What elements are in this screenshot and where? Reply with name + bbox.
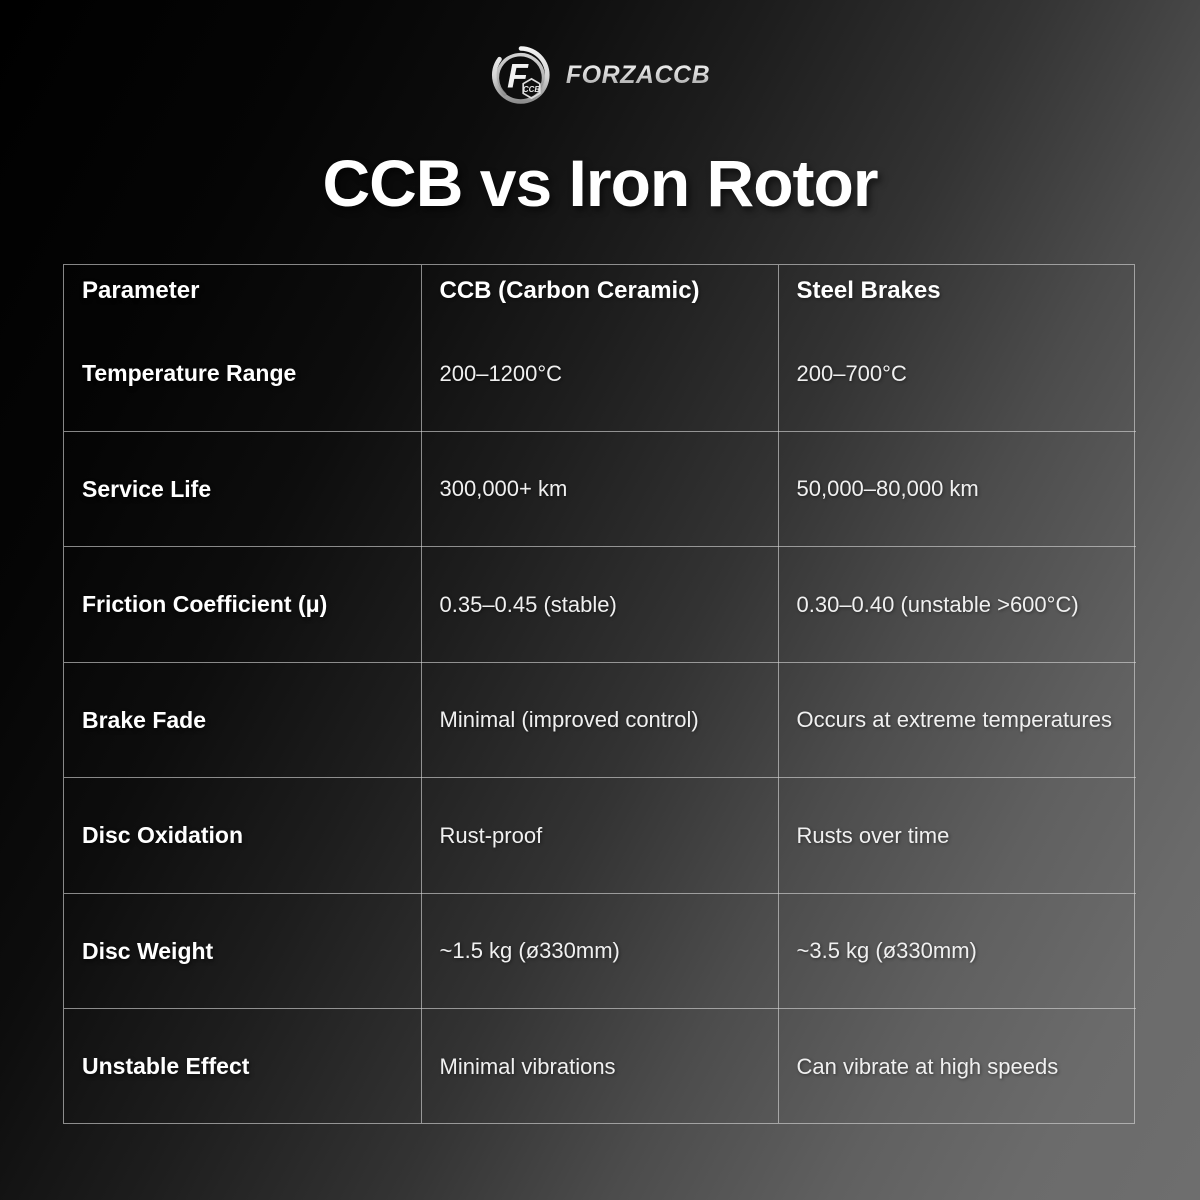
row-steel-value: ~3.5 kg (ø330mm) xyxy=(778,893,1136,1009)
row-parameter-label: Disc Oxidation xyxy=(64,778,421,894)
table-row: Brake Fade Minimal (improved control) Oc… xyxy=(64,662,1136,778)
row-ccb-value: 200–1200°C xyxy=(421,317,778,431)
table-row: Temperature Range 200–1200°C 200–700°C xyxy=(64,317,1136,431)
row-ccb-value: Rust-proof xyxy=(421,778,778,894)
table-row: Disc Weight ~1.5 kg (ø330mm) ~3.5 kg (ø3… xyxy=(64,893,1136,1009)
row-steel-value: Can vibrate at high speeds xyxy=(778,1009,1136,1123)
table-row: Disc Oxidation Rust-proof Rusts over tim… xyxy=(64,778,1136,894)
row-parameter-label: Friction Coefficient (μ) xyxy=(64,547,421,663)
column-header-steel: Steel Brakes xyxy=(778,265,1136,317)
row-parameter-label: Unstable Effect xyxy=(64,1009,421,1123)
forzaccb-logo-icon: F CCB xyxy=(490,44,552,106)
row-ccb-value: 300,000+ km xyxy=(421,431,778,547)
brand-header: F CCB FORZACCB xyxy=(0,40,1200,110)
svg-text:CCB: CCB xyxy=(523,85,541,94)
page-title: CCB vs Iron Rotor xyxy=(0,145,1200,221)
row-ccb-value: Minimal (improved control) xyxy=(421,662,778,778)
row-ccb-value: ~1.5 kg (ø330mm) xyxy=(421,893,778,1009)
brand-wordmark: FORZACCB xyxy=(566,61,710,90)
row-parameter-label: Temperature Range xyxy=(64,317,421,431)
poster-canvas: F CCB FORZACCB CCB vs Iron Rotor Paramet… xyxy=(0,0,1200,1200)
row-steel-value: 200–700°C xyxy=(778,317,1136,431)
row-ccb-value: 0.35–0.45 (stable) xyxy=(421,547,778,663)
table-row: Friction Coefficient (μ) 0.35–0.45 (stab… xyxy=(64,547,1136,663)
row-parameter-label: Service Life xyxy=(64,431,421,547)
column-header-parameter: Parameter xyxy=(64,265,421,317)
row-steel-value: 50,000–80,000 km xyxy=(778,431,1136,547)
row-steel-value: 0.30–0.40 (unstable >600°C) xyxy=(778,547,1136,663)
row-steel-value: Occurs at extreme temperatures xyxy=(778,662,1136,778)
row-parameter-label: Disc Weight xyxy=(64,893,421,1009)
column-header-ccb: CCB (Carbon Ceramic) xyxy=(421,265,778,317)
table-row: Service Life 300,000+ km 50,000–80,000 k… xyxy=(64,431,1136,547)
row-ccb-value: Minimal vibrations xyxy=(421,1009,778,1123)
table-row: Unstable Effect Minimal vibrations Can v… xyxy=(64,1009,1136,1123)
comparison-table: Parameter CCB (Carbon Ceramic) Steel Bra… xyxy=(64,265,1136,1123)
table-header-row: Parameter CCB (Carbon Ceramic) Steel Bra… xyxy=(64,265,1136,317)
row-parameter-label: Brake Fade xyxy=(64,662,421,778)
comparison-table-container: Parameter CCB (Carbon Ceramic) Steel Bra… xyxy=(63,264,1135,1124)
row-steel-value: Rusts over time xyxy=(778,778,1136,894)
